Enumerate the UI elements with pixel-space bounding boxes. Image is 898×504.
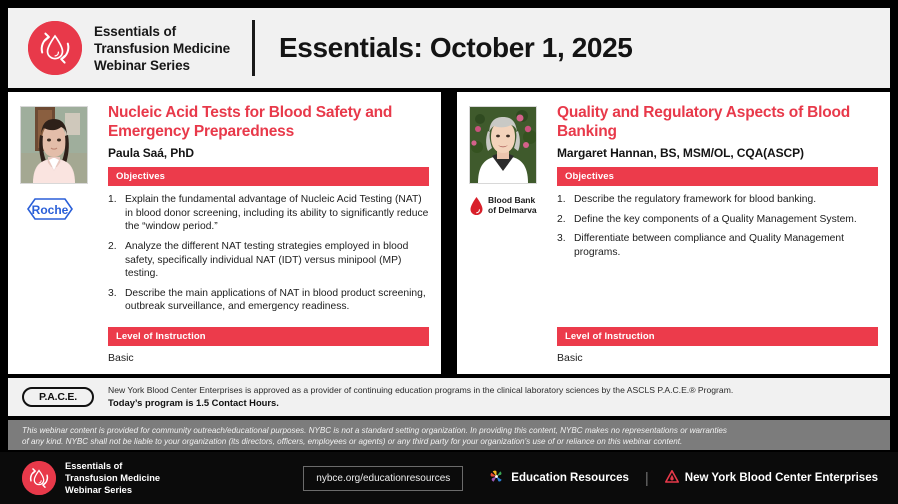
level-of-instruction-header: Level of Instruction <box>108 327 429 346</box>
brand-lockup: Essentials of Transfusion Medicine Webin… <box>28 21 230 75</box>
blood-bank-of-delmarva-logo-icon: Blood Bank of Delmarva <box>469 196 543 216</box>
objective-item: 3. Describe the main applications of NAT… <box>108 287 429 314</box>
webinar-slide: Essentials of Transfusion Medicine Webin… <box>0 0 898 504</box>
objective-number: 1. <box>108 193 125 234</box>
session-card-media: Roche <box>20 102 98 364</box>
brand-line-1: Essentials of <box>94 23 230 40</box>
objective-item: 2. Analyze the different NAT testing str… <box>108 240 429 281</box>
objective-text: Describe the main applications of NAT in… <box>125 287 429 314</box>
education-resources-link[interactable]: Education Resources <box>489 469 629 487</box>
objective-text: Explain the fundamental advantage of Nuc… <box>125 193 429 234</box>
level-of-instruction-header: Level of Instruction <box>557 327 878 346</box>
session-card-body: Nucleic Acid Tests for Blood Safety and … <box>98 102 429 364</box>
margaret-hannan-headshot <box>469 106 537 184</box>
legal-disclaimer: This webinar content is provided for com… <box>8 420 890 450</box>
roche-logo-icon: Roche <box>20 196 80 222</box>
session-card: Roche Nucleic Acid Tests for Blood Safet… <box>8 92 441 374</box>
brand-line-3: Webinar Series <box>94 57 230 74</box>
footer-separator: | <box>645 470 649 487</box>
slide-footer: Essentials of Transfusion Medicine Webin… <box>0 452 898 504</box>
pinwheel-icon <box>489 469 504 487</box>
footer-brand-lockup: Essentials of Transfusion Medicine Webin… <box>22 460 160 496</box>
nybc-link[interactable]: New York Blood Center Enterprises <box>665 470 878 486</box>
disclaimer-line-2: of any kind. NYBC shall not be liable to… <box>22 436 876 447</box>
objectives-list: 1. Describe the regulatory framework for… <box>557 193 878 265</box>
footer-links: nybce.org/educationresources Education R… <box>303 466 878 491</box>
objective-number: 2. <box>108 240 125 281</box>
pace-text-block: New York Blood Center Enterprises is app… <box>108 384 733 411</box>
sponsor-name-line-2: of Delmarva <box>488 206 537 216</box>
level-of-instruction-value: Basic <box>108 352 429 364</box>
objective-text: Analyze the different NAT testing strate… <box>125 240 429 281</box>
objectives-header: Objectives <box>108 167 429 186</box>
objectives-header: Objectives <box>557 167 878 186</box>
sponsor-blood-bank-of-delmarva: Blood Bank of Delmarva <box>469 196 543 216</box>
slide-header: Essentials of Transfusion Medicine Webin… <box>8 8 890 88</box>
session-title: Nucleic Acid Tests for Blood Safety and … <box>108 104 429 141</box>
education-resources-url[interactable]: nybce.org/educationresources <box>303 466 463 491</box>
pace-badge-icon: P.A.C.E. <box>22 387 94 407</box>
footer-brand-line-1: Essentials of <box>65 460 160 472</box>
paula-saa-headshot <box>20 106 88 184</box>
objective-number: 2. <box>557 213 574 227</box>
session-speaker: Margaret Hannan, BS, MSM/OL, CQA(ASCP) <box>557 146 878 160</box>
objective-number: 1. <box>557 193 574 207</box>
triangle-drop-icon <box>665 470 679 486</box>
brand-wordmark: Essentials of Transfusion Medicine Webin… <box>94 23 230 74</box>
education-resources-label: Education Resources <box>511 472 629 484</box>
blood-drop-recycle-icon <box>28 21 82 75</box>
page-title: Essentials: October 1, 2025 <box>279 32 632 64</box>
footer-wordmark: Essentials of Transfusion Medicine Webin… <box>65 460 160 496</box>
sponsor-name: Blood Bank of Delmarva <box>488 196 537 216</box>
session-card-body: Quality and Regulatory Aspects of Blood … <box>547 102 878 364</box>
svg-text:Roche: Roche <box>32 203 69 217</box>
objective-text: Define the key components of a Quality M… <box>574 213 878 227</box>
header-divider <box>252 20 255 76</box>
objective-text: Differentiate between compliance and Qua… <box>574 232 878 259</box>
objective-item: 3. Differentiate between compliance and … <box>557 232 878 259</box>
objective-item: 1. Explain the fundamental advantage of … <box>108 193 429 234</box>
session-cards: Roche Nucleic Acid Tests for Blood Safet… <box>8 92 890 374</box>
session-card: Blood Bank of Delmarva Quality and Regul… <box>457 92 890 374</box>
pace-contact-hours: Today’s program is 1.5 Contact Hours. <box>108 396 733 410</box>
pace-accreditation-strip: P.A.C.E. New York Blood Center Enterpris… <box>8 378 890 416</box>
card-spacer <box>557 266 878 321</box>
footer-brand-line-2: Transfusion Medicine <box>65 472 160 484</box>
disclaimer-line-1: This webinar content is provided for com… <box>22 425 876 436</box>
pace-statement: New York Blood Center Enterprises is app… <box>108 384 733 397</box>
session-card-media: Blood Bank of Delmarva <box>469 102 547 364</box>
objective-item: 2. Define the key components of a Qualit… <box>557 213 878 227</box>
objective-number: 3. <box>108 287 125 314</box>
level-of-instruction-value: Basic <box>557 352 878 364</box>
brand-line-2: Transfusion Medicine <box>94 40 230 57</box>
objectives-list: 1. Explain the fundamental advantage of … <box>108 193 429 320</box>
objective-item: 1. Describe the regulatory framework for… <box>557 193 878 207</box>
sponsor-roche: Roche <box>20 196 94 222</box>
blood-drop-recycle-icon <box>22 461 56 495</box>
nybc-label: New York Blood Center Enterprises <box>685 472 878 484</box>
footer-brand-line-3: Webinar Series <box>65 484 160 496</box>
objective-number: 3. <box>557 232 574 259</box>
objective-text: Describe the regulatory framework for bl… <box>574 193 878 207</box>
session-speaker: Paula Saá, PhD <box>108 146 429 160</box>
session-title: Quality and Regulatory Aspects of Blood … <box>557 104 878 141</box>
